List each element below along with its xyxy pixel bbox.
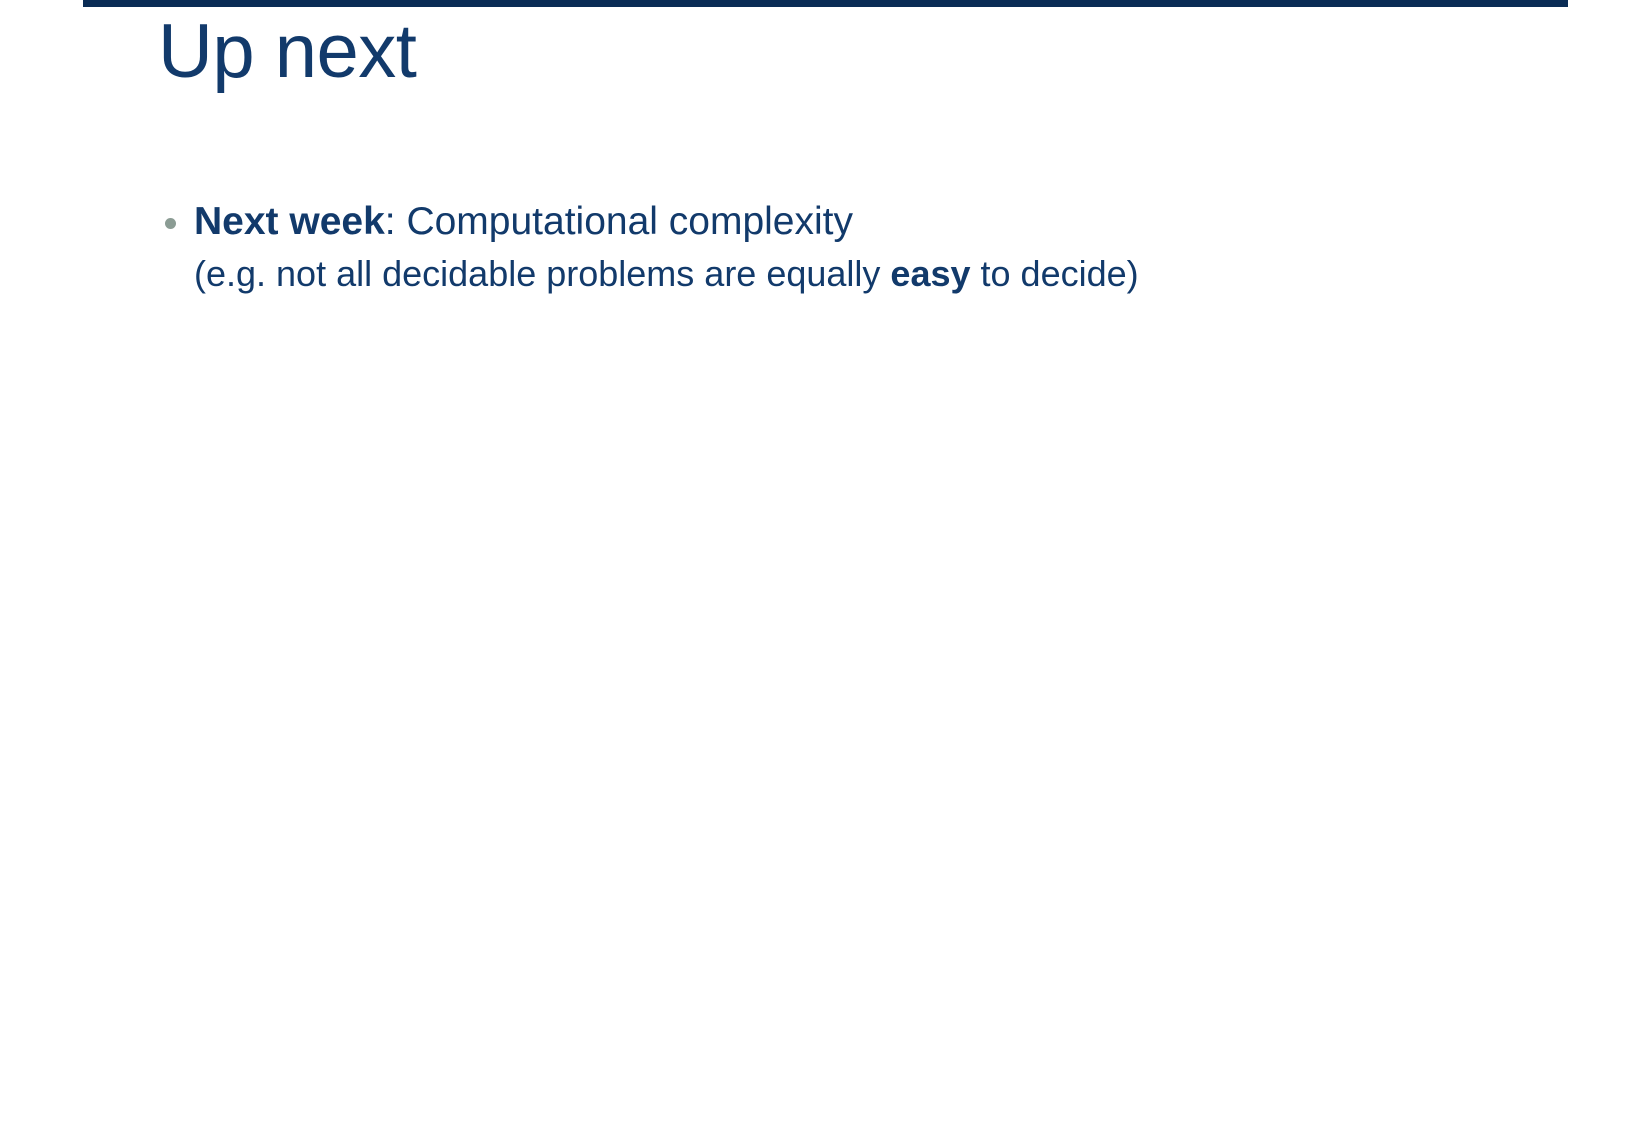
bullet-dot-icon [165,218,176,229]
bullet-line-primary: Next week: Computational complexity [194,196,1560,248]
header-accent-rule [83,0,1568,7]
page-title: Up next [158,14,416,90]
bullet-secondary-after: to decide) [971,253,1139,294]
bullet-secondary-emphasis: easy [890,253,970,294]
list-item: Next week: Computational complexity (e.g… [160,196,1560,300]
bullet-bold-prefix: Next week [194,200,385,243]
bullet-secondary-before: (e.g. not all decidable problems are equ… [194,253,890,294]
bullet-primary-rest: : Computational complexity [385,200,853,243]
slide-body: Next week: Computational complexity (e.g… [160,196,1560,300]
slide: Up next Next week: Computational complex… [0,0,1651,1135]
bullet-line-secondary: (e.g. not all decidable problems are equ… [194,248,1560,300]
